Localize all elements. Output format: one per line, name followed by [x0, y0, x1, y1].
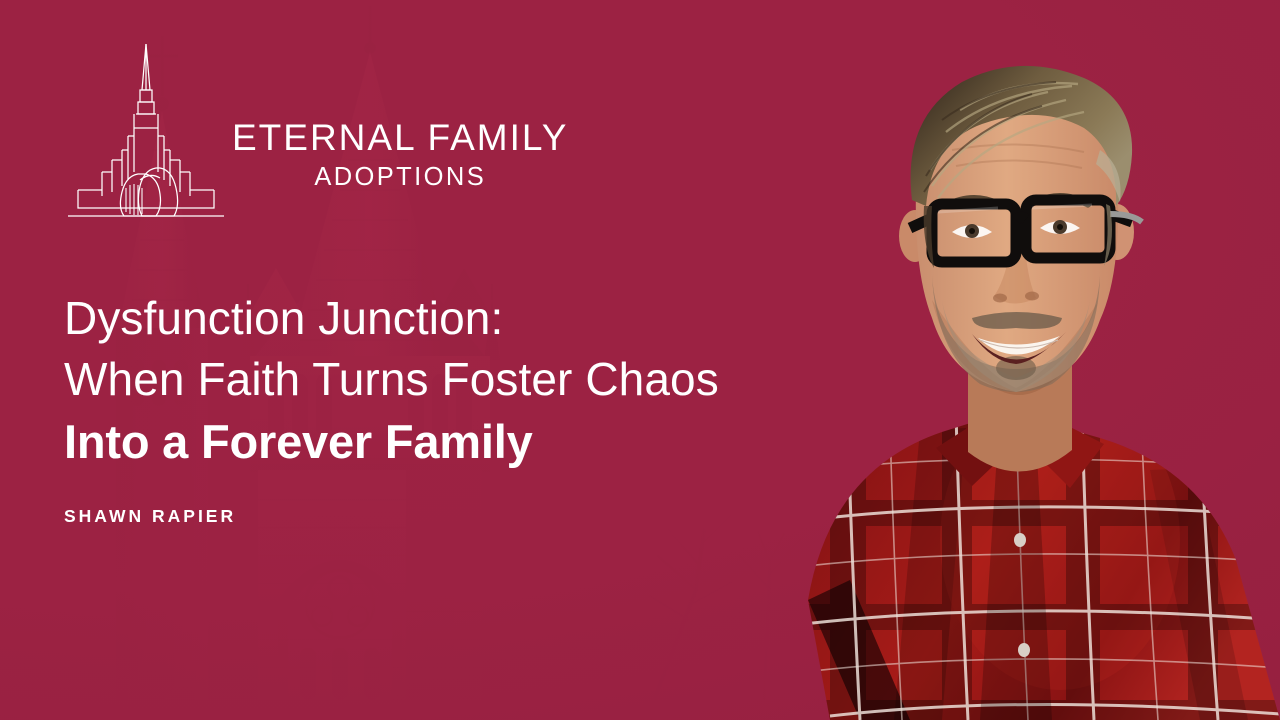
title-line-3-bold: Into a Forever Family — [64, 410, 824, 473]
speaker-name: SHAWN RAPIER — [64, 506, 236, 527]
episode-title-block: Dysfunction Junction: When Faith Turns F… — [64, 288, 824, 473]
logo-secondary-text: ADOPTIONS — [232, 165, 568, 191]
logo-primary-text: ETERNAL FAMILY — [232, 119, 568, 156]
brand-logo[interactable]: ETERNAL FAMILY ADOPTIONS — [64, 40, 568, 218]
temple-logo-icon — [64, 40, 228, 218]
title-line-2: When Faith Turns Foster Chaos — [64, 349, 824, 410]
podcast-title-card: ETERNAL FAMILY ADOPTIONS Dysfunction Jun… — [0, 0, 1280, 720]
title-line-1: Dysfunction Junction: — [64, 288, 824, 349]
